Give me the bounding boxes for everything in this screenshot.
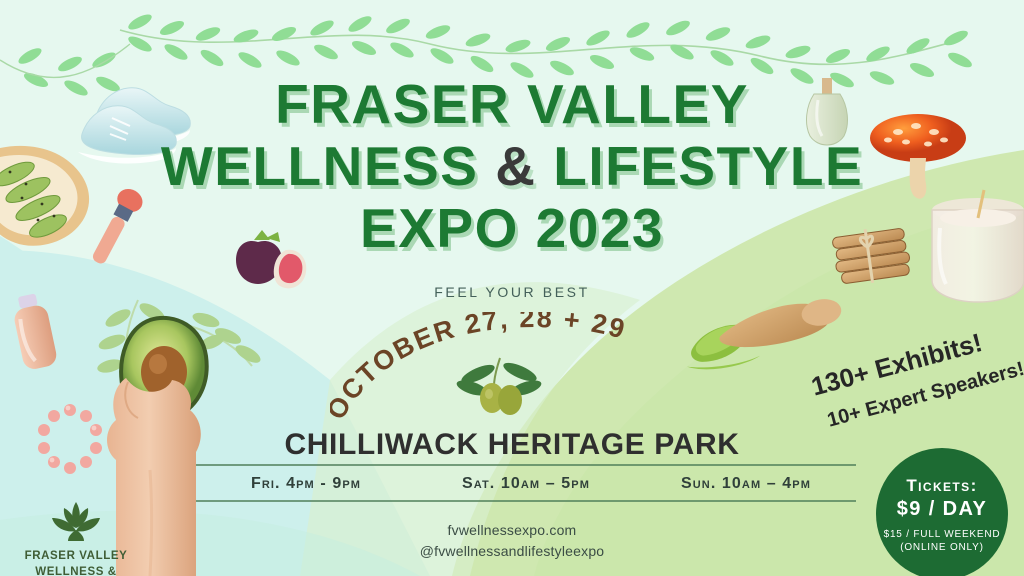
tickets-online-note: (ONLINE ONLY) [900, 542, 984, 553]
expo-poster: FRASER VALLEY WELLNESS & LIFESTYLE EXPO … [0, 0, 1024, 576]
footer-contact: fvwellnessexpo.com @fvwellnessandlifesty… [0, 520, 1024, 562]
tagline: FEEL YOUR BEST [0, 284, 1024, 300]
title-line-2: WELLNESS & LIFESTYLE [0, 138, 1024, 194]
hours-sunday: Sun. 10am – 4pm [636, 475, 856, 493]
website-url[interactable]: fvwellnessexpo.com [0, 520, 1024, 541]
logo-line-1: FRASER VALLEY [14, 549, 138, 565]
hours-divider-top [196, 464, 856, 466]
title-line-2-pre: WELLNESS [161, 135, 495, 197]
title-line-2-post: LIFESTYLE [536, 135, 863, 197]
serum-bottle-image [10, 292, 59, 371]
tickets-weekend-price: $15 / FULL WEEKEND [884, 529, 1001, 540]
hours-divider-bottom [196, 500, 856, 502]
title-line-3: EXPO 2023 [0, 200, 1024, 256]
tickets-label: Tickets: [906, 476, 977, 496]
hours-saturday: Sat. 10am – 5pm [416, 475, 636, 493]
tickets-badge[interactable]: Tickets: $9 / DAY $15 / FULL WEEKEND (ON… [876, 448, 1008, 576]
event-dates-arc: OCTOBER 27, 28 + 29 [330, 312, 730, 442]
poster-title: FRASER VALLEY WELLNESS & LIFESTYLE EXPO … [0, 76, 1024, 256]
hours-friday: Fri. 4pm - 9pm [196, 475, 416, 493]
brand-logo: FRASER VALLEY WELLNESS & LIFESTYLE [14, 500, 138, 576]
social-handle[interactable]: @fvwellnessandlifestyleexpo [0, 541, 1024, 562]
hours-row: Fri. 4pm - 9pm Sat. 10am – 5pm Sun. 10am… [196, 470, 856, 498]
logo-line-2: WELLNESS & LIFESTYLE [14, 565, 138, 576]
lotus-icon [48, 500, 104, 542]
logo-text: FRASER VALLEY WELLNESS & LIFESTYLE [14, 549, 138, 576]
venue-name: CHILLIWACK HERITAGE PARK [0, 428, 1024, 462]
event-dates-text: OCTOBER 27, 28 + 29 [330, 312, 630, 425]
title-line-1: FRASER VALLEY [0, 76, 1024, 132]
tickets-price: $9 / DAY [897, 498, 988, 521]
title-ampersand: & [495, 135, 536, 197]
